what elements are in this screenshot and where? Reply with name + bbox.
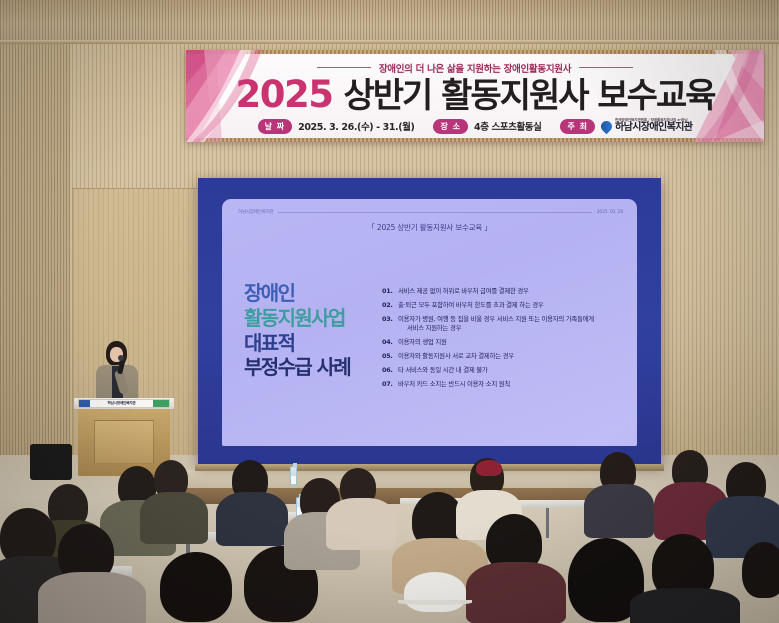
projection-screen: 하남시장애인복지관 2025. 03. 26 「 2025 상반기 활동지원사 … xyxy=(198,178,661,465)
podium xyxy=(78,406,170,476)
podium-front-panel xyxy=(94,420,154,464)
audience-person xyxy=(326,498,396,550)
item-number: 07. xyxy=(382,380,394,389)
podium-sign-text: 하남시장애인복지관 xyxy=(90,401,153,406)
list-item: 05. 이용자와 활동지원사 서로 교차 결제하는 경우 xyxy=(382,352,627,361)
audience-red-cap xyxy=(476,460,502,476)
banner-chip-place: 장 소 xyxy=(433,119,468,134)
org-logo-icon xyxy=(599,118,615,134)
list-item: 06. 타 서비스와 동일 시간 내 결제 불가 xyxy=(382,366,627,375)
slide-header-rule xyxy=(278,212,591,213)
audience-person xyxy=(216,492,288,546)
banner-details: 날 짜 2025. 3. 26.(수) - 31.(월) 장 소 4층 스포츠활… xyxy=(258,119,693,134)
banner-main-title: 상반기 활동지원사 보수교육 xyxy=(343,79,714,113)
slide-header: 하남시장애인복지관 2025. 03. 26 xyxy=(238,209,623,215)
item-text-line-1: 이용자가 병원, 여행 등 집을 비울 경우 서비스 지원 또는 이용자의 가족… xyxy=(398,315,594,323)
tagline-rule-right xyxy=(579,67,633,68)
banner-date-value: 2025. 3. 26.(수) - 31.(월) xyxy=(298,119,414,133)
slide-title-line-4: 부정수급 사례 xyxy=(244,355,382,380)
slide-title-line-3: 대표적 xyxy=(244,331,382,356)
presentation-slide: 하남시장애인복지관 2025. 03. 26 「 2025 상반기 활동지원사 … xyxy=(222,199,637,446)
slide-title-line-2: 활동지원사업 xyxy=(244,306,382,331)
slide-header-org: 하남시장애인복지관 xyxy=(238,209,273,215)
item-text: 이용자가 병원, 여행 등 집을 비울 경우 서비스 지원 또는 이용자의 가족… xyxy=(398,315,627,332)
item-number: 04. xyxy=(382,338,394,347)
desk-leg xyxy=(546,508,549,538)
slide-title-line-1: 장애인 xyxy=(244,281,382,306)
audience-person xyxy=(584,484,654,538)
audience-white-cap xyxy=(404,572,466,612)
banner-place-value: 4층 스포츠활동실 xyxy=(474,119,542,133)
event-banner: 장애인의 더 나은 삶을 지원하는 장애인활동지원사 2025 상반기 활동지원… xyxy=(186,50,764,142)
banner-host-org: 한국장애인복지관협회 / 장애활동지원사업 e-러닝 하남시장애인복지관 xyxy=(601,119,692,133)
item-text: 이용자와 활동지원사 서로 교차 결제하는 경우 xyxy=(398,352,627,361)
desk xyxy=(512,500,586,508)
podium-sign-accent xyxy=(153,400,169,407)
audience-cap-brim xyxy=(398,600,472,605)
banner-year: 2025 xyxy=(235,76,332,113)
stage-equipment-box xyxy=(30,444,72,480)
item-number: 01. xyxy=(382,287,394,296)
list-item: 07. 바우처 카드 소지는 반드시 이용자 소지 원칙 xyxy=(382,380,627,389)
item-number: 02. xyxy=(382,301,394,310)
left-wall-slats xyxy=(0,44,70,464)
item-number: 03. xyxy=(382,315,394,332)
audience-person xyxy=(466,562,566,623)
item-number: 05. xyxy=(382,352,394,361)
item-text: 서비스 제공 없이 허위로 바우처 급여를 결제한 경우 xyxy=(398,287,627,296)
tagline-rule-left xyxy=(317,67,371,68)
item-text: 타 서비스와 동일 시간 내 결제 불가 xyxy=(398,366,627,375)
banner-chip-host: 주 최 xyxy=(560,119,595,134)
slide-subtitle: 「 2025 상반기 활동지원사 보수교육 」 xyxy=(222,222,637,233)
item-text: 출·퇴근 모두 포함하여 바우처 한도를 초과 결제 하는 경우 xyxy=(398,301,627,310)
audience-person xyxy=(140,492,208,544)
water-bottle xyxy=(290,466,297,486)
microphone-head-icon xyxy=(118,355,124,361)
list-item: 03. 이용자가 병원, 여행 등 집을 비울 경우 서비스 지원 또는 이용자… xyxy=(382,315,627,332)
banner-tagline: 장애인의 더 나은 삶을 지원하는 장애인활동지원사 xyxy=(317,61,633,75)
banner-title: 2025 상반기 활동지원사 보수교육 xyxy=(235,76,714,113)
slide-title: 장애인 활동지원사업 대표적 부정수급 사례 xyxy=(222,281,382,380)
item-number: 06. xyxy=(382,366,394,375)
seminar-photo: 장애인의 더 나은 삶을 지원하는 장애인활동지원사 2025 상반기 활동지원… xyxy=(0,0,779,623)
slide-header-date: 2025. 03. 26 xyxy=(597,210,623,215)
stage-edge xyxy=(150,470,620,490)
item-text-line-2: 서비스 지원하는 경우 xyxy=(398,324,627,333)
item-text: 바우처 카드 소지는 반드시 이용자 소지 원칙 xyxy=(398,380,627,389)
item-text: 이용자의 생업 지원 xyxy=(398,338,627,347)
org-name: 하남시장애인복지관 xyxy=(615,123,692,133)
slide-bullet-list: 01. 서비스 제공 없이 허위로 바우처 급여를 결제한 경우 02. 출·퇴… xyxy=(382,281,637,394)
podium-sign-logo-icon xyxy=(79,400,90,407)
ceiling-wall-slats xyxy=(0,0,779,44)
list-item: 02. 출·퇴근 모두 포함하여 바우처 한도를 초과 결제 하는 경우 xyxy=(382,301,627,310)
audience-person xyxy=(160,552,232,622)
audience-person xyxy=(630,588,740,623)
audience-person xyxy=(38,572,146,623)
list-item: 01. 서비스 제공 없이 허위로 바우처 급여를 결제한 경우 xyxy=(382,287,627,296)
tagline-text: 장애인의 더 나은 삶을 지원하는 장애인활동지원사 xyxy=(379,61,571,75)
audience-person xyxy=(742,542,779,598)
banner-chip-date: 날 짜 xyxy=(258,119,293,134)
list-item: 04. 이용자의 생업 지원 xyxy=(382,338,627,347)
podium-sign: 하남시장애인복지관 xyxy=(78,399,170,408)
